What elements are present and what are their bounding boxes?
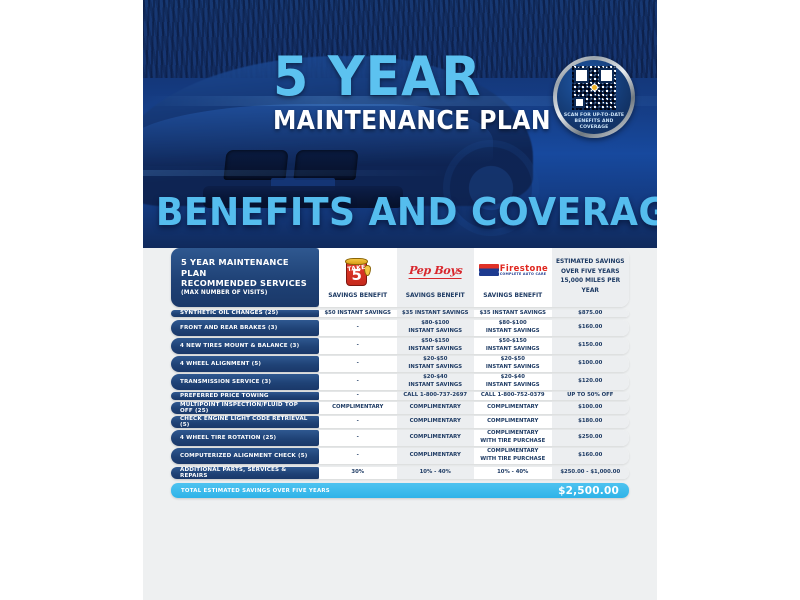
table-row: MULTIPOINT INSPECTION/FLUID TOP OFF (25)… bbox=[171, 402, 629, 414]
table-body: SYNTHETIC OIL CHANGES (25)$50 INSTANT SA… bbox=[171, 310, 629, 479]
banner-title: BENEFITS AND COVERAGE bbox=[156, 190, 644, 234]
table-row: FRONT AND REAR BRAKES (3)-$80-$100 INSTA… bbox=[171, 320, 629, 336]
qr-center-dot bbox=[591, 84, 598, 91]
cell-estimated-savings: $160.00 bbox=[552, 320, 630, 336]
cell-estimated-savings: $180.00 bbox=[552, 416, 630, 428]
table-row: 4 WHEEL TIRE ROTATION (25)-COMPLIMENTARY… bbox=[171, 430, 629, 446]
cell-firestone: COMPLIMENTARY WITH TIRE PURCHASE bbox=[474, 448, 552, 464]
row-cells: COMPLIMENTARYCOMPLIMENTARYCOMPLIMENTARY$… bbox=[319, 402, 629, 414]
pepboys-logo-icon: Pep Boys bbox=[408, 265, 462, 279]
firestone-bar-top bbox=[479, 264, 499, 272]
row-cells: -$80-$100 INSTANT SAVINGS$80-$100 INSTAN… bbox=[319, 320, 629, 336]
cell-pepboys: $20-$50 INSTANT SAVINGS bbox=[397, 356, 475, 372]
cell-pepboys: COMPLIMENTARY bbox=[397, 402, 475, 414]
cell-pepboys: $20-$40 INSTANT SAVINGS bbox=[397, 374, 475, 390]
cell-estimated-savings: $120.00 bbox=[552, 374, 630, 390]
column-header-firestone: Firestone COMPLETE AUTO CARE SAVINGS BEN… bbox=[474, 248, 552, 307]
table-row: ADDITIONAL PARTS, SERVICES & REPAIRS30%1… bbox=[171, 467, 629, 479]
row-cells: -CALL 1-800-737-2697CALL 1-800-752-0379U… bbox=[319, 392, 629, 400]
row-cells: -COMPLIMENTARYCOMPLIMENTARY WITH TIRE PU… bbox=[319, 430, 629, 446]
take5-logo-icon: TAKE 5 bbox=[344, 257, 371, 287]
row-cells: -COMPLIMENTARYCOMPLIMENTARY WITH TIRE PU… bbox=[319, 448, 629, 464]
cell-firestone: COMPLIMENTARY bbox=[474, 416, 552, 428]
qr-finder-bottom-left bbox=[574, 97, 585, 108]
table-header-cells: TAKE 5 SAVINGS BENEFIT Pep Boys SAVINGS … bbox=[319, 248, 629, 307]
cell-pepboys: COMPLIMENTARY bbox=[397, 430, 475, 446]
total-savings-value: $2,500.00 bbox=[558, 485, 619, 497]
cell-firestone: $35 INSTANT SAVINGS bbox=[474, 310, 552, 318]
row-cells: 30%10% - 40%10% - 40%$250.00 - $1,000.00 bbox=[319, 467, 629, 479]
row-service-label: TRANSMISSION SERVICE (3) bbox=[171, 374, 319, 390]
table-row: PREFERRED PRICE TOWING-CALL 1-800-737-26… bbox=[171, 392, 629, 400]
row-service-label: PREFERRED PRICE TOWING bbox=[171, 392, 319, 400]
table-row: SYNTHETIC OIL CHANGES (25)$50 INSTANT SA… bbox=[171, 310, 629, 318]
column-header-pepboys: Pep Boys SAVINGS BENEFIT bbox=[397, 248, 475, 307]
row-cells: -$20-$40 INSTANT SAVINGS$20-$40 INSTANT … bbox=[319, 374, 629, 390]
qr-badge[interactable]: SCAN FOR UP-TO-DATE BENEFITS AND COVERAG… bbox=[553, 56, 635, 138]
row-service-label: MULTIPOINT INSPECTION/FLUID TOP OFF (25) bbox=[171, 402, 319, 414]
hero-sheen-secondary bbox=[143, 170, 451, 176]
row-cells: -$20-$50 INSTANT SAVINGS$20-$50 INSTANT … bbox=[319, 356, 629, 372]
cell-firestone: $20-$40 INSTANT SAVINGS bbox=[474, 374, 552, 390]
page-subtitle: MAINTENANCE PLAN bbox=[273, 106, 512, 136]
cell-take5: - bbox=[319, 392, 397, 400]
row-service-label: CHECK ENGINE LIGHT CODE RETRIEVAL (5) bbox=[171, 416, 319, 428]
cell-take5: COMPLIMENTARY bbox=[319, 402, 397, 414]
cell-take5: - bbox=[319, 338, 397, 354]
hero-title-block: 5 YEAR MAINTENANCE PLAN bbox=[273, 52, 533, 136]
row-service-label: 4 WHEEL TIRE ROTATION (25) bbox=[171, 430, 319, 446]
cell-estimated-savings: $250.00 - $1,000.00 bbox=[552, 467, 630, 479]
header-label-line3: (MAX NUMBER OF VISITS) bbox=[181, 289, 267, 298]
column-header-estimated-savings: ESTIMATED SAVINGS OVER FIVE YEARS 15,000… bbox=[552, 248, 630, 307]
total-savings-label: TOTAL ESTIMATED SAVINGS OVER FIVE YEARS bbox=[181, 488, 330, 494]
cell-firestone: COMPLIMENTARY WITH TIRE PURCHASE bbox=[474, 430, 552, 446]
cell-firestone: $80-$100 INSTANT SAVINGS bbox=[474, 320, 552, 336]
cell-pepboys: COMPLIMENTARY bbox=[397, 448, 475, 464]
firestone-logo-icon: Firestone COMPLETE AUTO CARE bbox=[478, 261, 548, 283]
cell-pepboys: $35 INSTANT SAVINGS bbox=[397, 310, 475, 318]
cell-estimated-savings: $150.00 bbox=[552, 338, 630, 354]
take5-number: 5 bbox=[344, 268, 369, 283]
total-savings-bar: TOTAL ESTIMATED SAVINGS OVER FIVE YEARS … bbox=[171, 483, 629, 498]
table-row: TRANSMISSION SERVICE (3)-$20-$40 INSTANT… bbox=[171, 374, 629, 390]
row-cells: -COMPLIMENTARYCOMPLIMENTARY$180.00 bbox=[319, 416, 629, 428]
cell-firestone: $20-$50 INSTANT SAVINGS bbox=[474, 356, 552, 372]
row-service-label: FRONT AND REAR BRAKES (3) bbox=[171, 320, 319, 336]
cell-take5: 30% bbox=[319, 467, 397, 479]
row-service-label: SYNTHETIC OIL CHANGES (25) bbox=[171, 310, 319, 318]
page-title: 5 YEAR bbox=[273, 52, 517, 102]
firestone-savings-label: SAVINGS BENEFIT bbox=[483, 292, 542, 301]
table-row: 4 WHEEL ALIGNMENT (5)-$20-$50 INSTANT SA… bbox=[171, 356, 629, 372]
firestone-logo-slot: Firestone COMPLETE AUTO CARE bbox=[476, 248, 550, 292]
row-cells: -$50-$150 INSTANT SAVINGS$50-$150 INSTAN… bbox=[319, 338, 629, 354]
header-label-line1: 5 YEAR MAINTENANCE PLAN bbox=[181, 257, 309, 278]
cell-pepboys: 10% - 40% bbox=[397, 467, 475, 479]
table-header-label: 5 YEAR MAINTENANCE PLAN RECOMMENDED SERV… bbox=[171, 248, 319, 307]
cell-take5: - bbox=[319, 416, 397, 428]
cell-pepboys: CALL 1-800-737-2697 bbox=[397, 392, 475, 400]
pepboys-logo-slot: Pep Boys bbox=[399, 248, 473, 292]
cell-pepboys: COMPLIMENTARY bbox=[397, 416, 475, 428]
cell-estimated-savings: $100.00 bbox=[552, 356, 630, 372]
cell-take5: - bbox=[319, 374, 397, 390]
hero-header: 5 YEAR MAINTENANCE PLAN SCAN FOR UP-TO-D… bbox=[143, 0, 657, 248]
cell-firestone: COMPLIMENTARY bbox=[474, 402, 552, 414]
qr-badge-inner: SCAN FOR UP-TO-DATE BENEFITS AND COVERAG… bbox=[557, 60, 631, 134]
cell-take5: $50 INSTANT SAVINGS bbox=[319, 310, 397, 318]
table-row: CHECK ENGINE LIGHT CODE RETRIEVAL (5)-CO… bbox=[171, 416, 629, 428]
cell-estimated-savings: $875.00 bbox=[552, 310, 630, 318]
row-service-label: 4 WHEEL ALIGNMENT (5) bbox=[171, 356, 319, 372]
column-header-take5: TAKE 5 SAVINGS BENEFIT bbox=[319, 248, 397, 307]
estimated-line2: OVER FIVE YEARS bbox=[561, 268, 620, 278]
cell-firestone: $50-$150 INSTANT SAVINGS bbox=[474, 338, 552, 354]
cell-take5: - bbox=[319, 320, 397, 336]
firestone-tagline: COMPLETE AUTO CARE bbox=[500, 272, 547, 277]
cell-firestone: 10% - 40% bbox=[474, 467, 552, 479]
table-row: COMPUTERIZED ALIGNMENT CHECK (5)-COMPLIM… bbox=[171, 448, 629, 464]
cell-take5: - bbox=[319, 356, 397, 372]
pepboys-savings-label: SAVINGS BENEFIT bbox=[406, 292, 465, 301]
estimated-line1: ESTIMATED SAVINGS bbox=[556, 258, 625, 268]
cell-firestone: CALL 1-800-752-0379 bbox=[474, 392, 552, 400]
row-service-label: COMPUTERIZED ALIGNMENT CHECK (5) bbox=[171, 448, 319, 464]
qr-code-icon[interactable] bbox=[572, 66, 616, 110]
firestone-bar-bottom bbox=[479, 272, 499, 276]
cell-take5: - bbox=[319, 448, 397, 464]
banner: BENEFITS AND COVERAGE bbox=[143, 190, 657, 234]
table-row: 4 NEW TIRES MOUNT & BALANCE (3)-$50-$150… bbox=[171, 338, 629, 354]
table-header-row: 5 YEAR MAINTENANCE PLAN RECOMMENDED SERV… bbox=[171, 248, 629, 307]
take5-savings-label: SAVINGS BENEFIT bbox=[328, 292, 387, 301]
cell-estimated-savings: $160.00 bbox=[552, 448, 630, 464]
row-service-label: 4 NEW TIRES MOUNT & BALANCE (3) bbox=[171, 338, 319, 354]
cell-estimated-savings: $100.00 bbox=[552, 402, 630, 414]
cell-take5: - bbox=[319, 430, 397, 446]
cell-estimated-savings: $250.00 bbox=[552, 430, 630, 446]
benefits-table: 5 YEAR MAINTENANCE PLAN RECOMMENDED SERV… bbox=[143, 248, 657, 498]
cell-pepboys: $80-$100 INSTANT SAVINGS bbox=[397, 320, 475, 336]
header-label-line2: RECOMMENDED SERVICES bbox=[181, 278, 307, 289]
cell-pepboys: $50-$150 INSTANT SAVINGS bbox=[397, 338, 475, 354]
cell-estimated-savings: UP TO 50% OFF bbox=[552, 392, 630, 400]
take5-logo-slot: TAKE 5 bbox=[321, 248, 395, 292]
qr-label: SCAN FOR UP-TO-DATE BENEFITS AND COVERAG… bbox=[563, 113, 625, 132]
estimated-line3: 15,000 MILES PER YEAR bbox=[554, 277, 628, 296]
maintenance-plan-poster: 5 YEAR MAINTENANCE PLAN SCAN FOR UP-TO-D… bbox=[143, 0, 657, 600]
row-cells: $50 INSTANT SAVINGS$35 INSTANT SAVINGS$3… bbox=[319, 310, 629, 318]
row-service-label: ADDITIONAL PARTS, SERVICES & REPAIRS bbox=[171, 467, 319, 479]
